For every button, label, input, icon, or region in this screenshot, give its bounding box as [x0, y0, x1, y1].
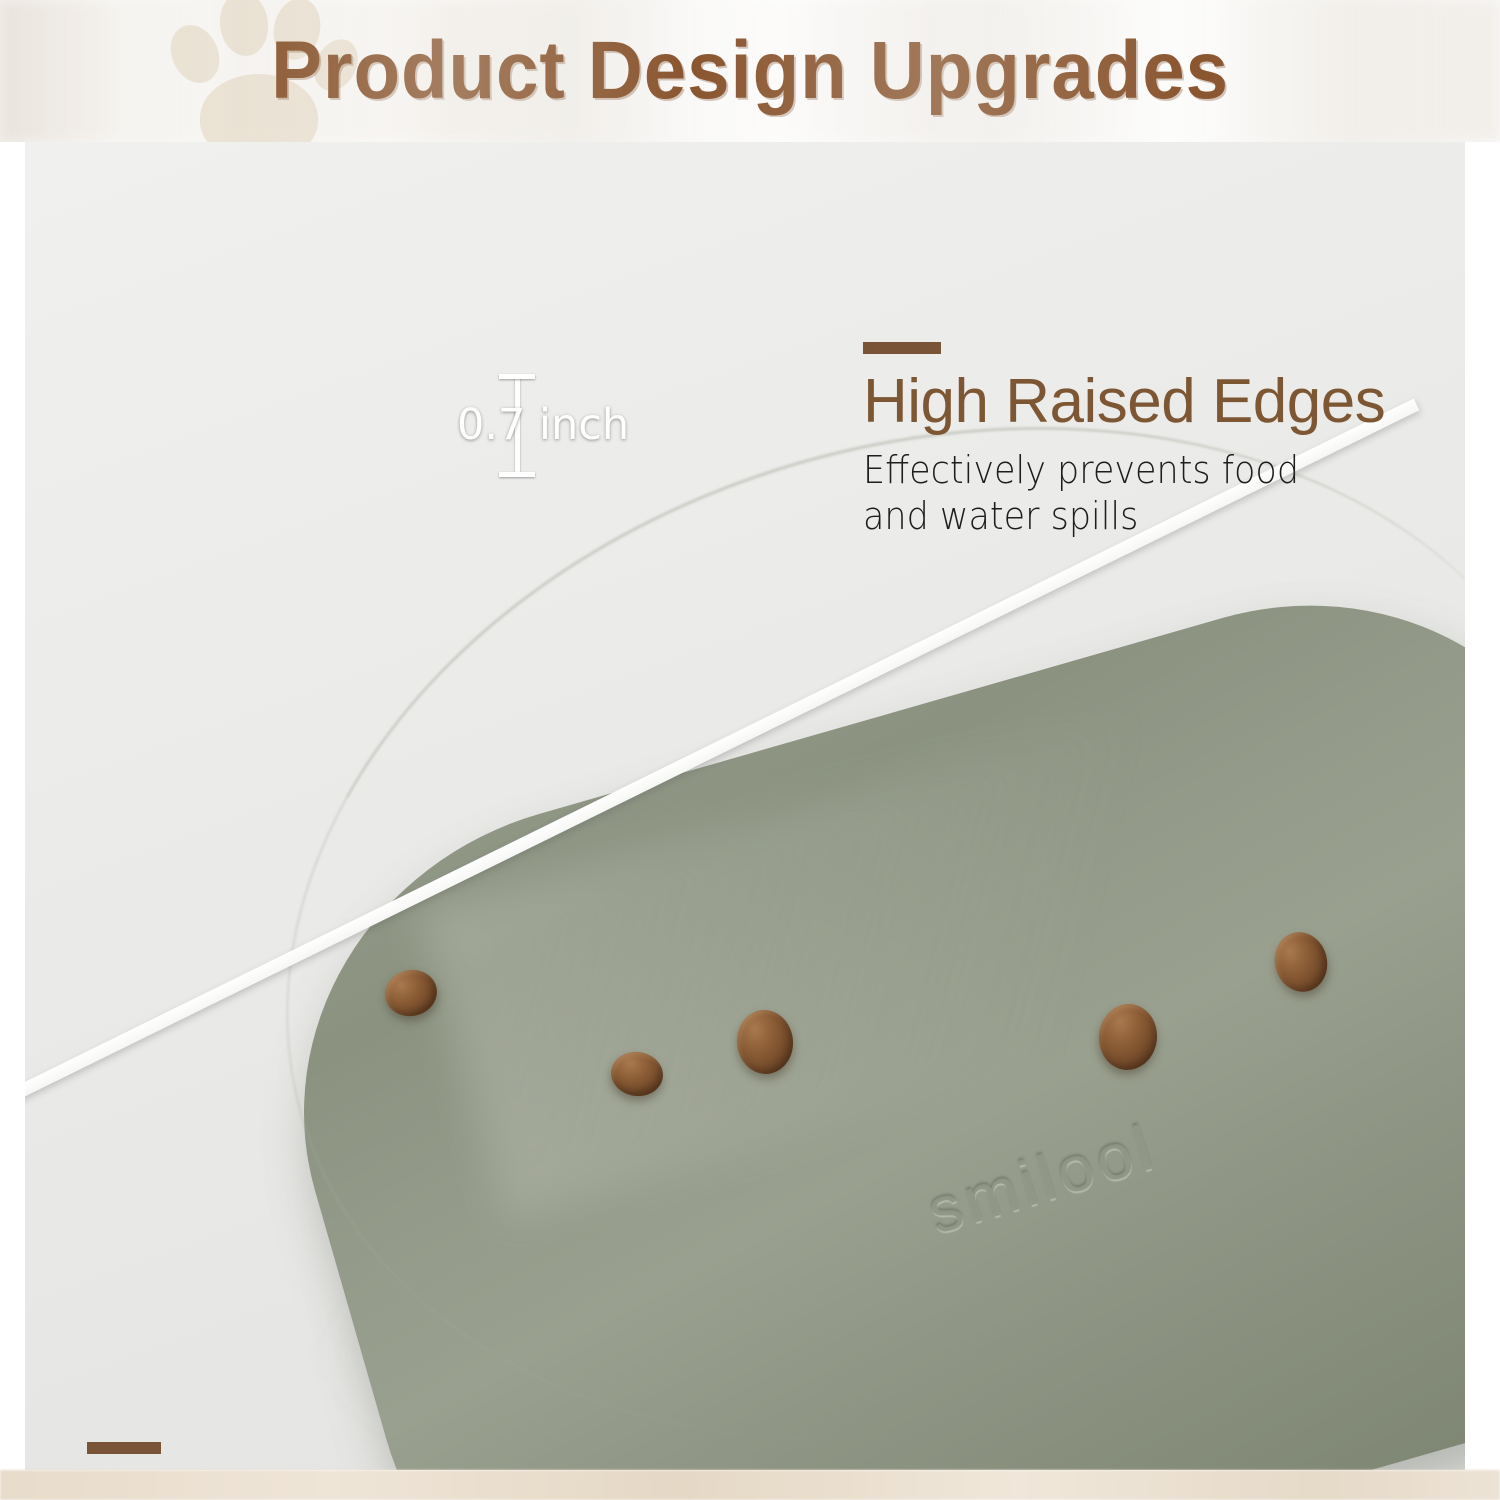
- bottom-background-strip: [0, 1470, 1500, 1500]
- feature-subtitle-line-1: Effectively prevents food: [863, 447, 1443, 493]
- banner: Product Design Upgrades: [0, 0, 1500, 142]
- feature-subtitle-line-2: and water spills: [863, 493, 1443, 539]
- feature-block-high-raised-edges: High Raised Edges Effectively prevents f…: [863, 342, 1465, 540]
- paw-print-icon: [166, 0, 356, 142]
- page-title: Product Design Upgrades: [53, 0, 1448, 142]
- feature-subtitle: Effectively prevents food and water spil…: [863, 447, 1443, 540]
- dimension-tick-bottom-icon: [499, 472, 535, 477]
- dimension-value: 0.7 inch: [457, 400, 637, 450]
- dimension-callout: 0.7 inch: [457, 374, 637, 484]
- product-photo-panel: smilool 0.7 inch High Raised Edges Effec…: [25, 142, 1465, 1470]
- accent-bar: [87, 1442, 161, 1454]
- dimension-tick-top-icon: [499, 374, 535, 379]
- feature-block-keeping-floor-clean: Keeping the floor clean Minimizes time s…: [87, 1442, 1287, 1470]
- accent-bar: [863, 342, 941, 354]
- feature-heading: High Raised Edges: [863, 366, 1465, 437]
